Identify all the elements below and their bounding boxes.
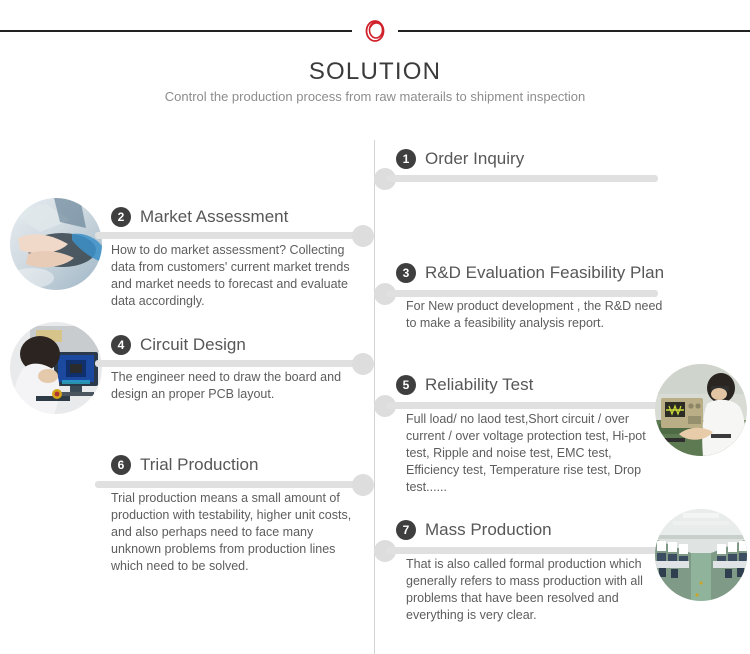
spiral-circle-logo-icon (360, 16, 390, 46)
step-description: Trial production means a small amount of… (111, 490, 363, 575)
step-description: For New product development , the R&D ne… (406, 298, 666, 332)
step-number-badge: 3 (396, 263, 416, 283)
page-title: SOLUTION (0, 58, 750, 86)
connector-bar (95, 481, 365, 488)
step-header: 5 Reliability Test (396, 375, 533, 395)
page-subtitle: Control the production process from raw … (0, 89, 750, 104)
step-header: 7 Mass Production (396, 520, 552, 540)
step-description: That is also called formal production wh… (406, 556, 660, 624)
step-title: Market Assessment (140, 207, 288, 227)
step-number-badge: 6 (111, 455, 131, 475)
factory-assembly-line-photo (655, 509, 747, 601)
step-description: Full load/ no laod test,Short circuit / … (406, 411, 660, 496)
step-title: Mass Production (425, 520, 552, 540)
step-number-badge: 1 (396, 149, 416, 169)
hands-on-tablet-photo (10, 198, 102, 290)
brand-logo (352, 11, 398, 51)
connector-bar (386, 290, 658, 297)
step-number-badge: 7 (396, 520, 416, 540)
step-title: R&D Evaluation Feasibility Plan (425, 263, 664, 283)
step-header: 4 Circuit Design (111, 335, 246, 355)
step-description: The engineer need to draw the board and … (111, 369, 363, 403)
step-title: Trial Production (140, 455, 258, 475)
step-title: Circuit Design (140, 335, 246, 355)
timeline-center-axis (374, 140, 375, 654)
step-header: 6 Trial Production (111, 455, 258, 475)
connector-bar (386, 175, 658, 182)
connector-bar (95, 232, 365, 239)
step-header: 3 R&D Evaluation Feasibility Plan (396, 263, 664, 283)
engineer-at-computer-photo (10, 322, 102, 414)
solution-timeline: 1 Order Inquiry (0, 120, 750, 654)
connector-bar (386, 402, 658, 409)
step-number-badge: 5 (396, 375, 416, 395)
step-title: Reliability Test (425, 375, 533, 395)
page-header: SOLUTION Control the production process … (0, 0, 750, 120)
connector-bar (95, 360, 365, 367)
step-number-badge: 2 (111, 207, 131, 227)
lab-testing-equipment-photo (655, 364, 747, 456)
step-number-badge: 4 (111, 335, 131, 355)
step-header: 2 Market Assessment (111, 207, 288, 227)
connector-bar (386, 547, 658, 554)
step-title: Order Inquiry (425, 149, 524, 169)
step-header: 1 Order Inquiry (396, 149, 524, 169)
step-description: How to do market assessment? Collecting … (111, 242, 363, 310)
